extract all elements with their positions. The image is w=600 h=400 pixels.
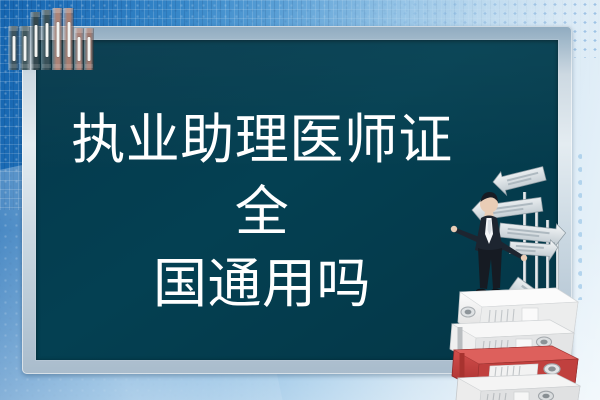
binder-shelf bbox=[8, 6, 96, 70]
binder-stack bbox=[450, 288, 582, 400]
binder-bottom-cap bbox=[53, 64, 62, 68]
poster-canvas: 执业助理医师证全 国通用吗 bbox=[0, 0, 600, 400]
binder-top-cap bbox=[9, 26, 18, 31]
binder-bottom-cap bbox=[31, 64, 40, 68]
binder-top-cap bbox=[75, 28, 83, 33]
binder-bottom-cap bbox=[42, 64, 51, 68]
binder-spine-label bbox=[34, 25, 37, 57]
binder-8 bbox=[84, 28, 94, 70]
binder-top-cap bbox=[31, 12, 40, 17]
binder-top-cap bbox=[53, 8, 62, 13]
binder-top-cap bbox=[20, 26, 29, 31]
illustration-businessman-signposts bbox=[438, 160, 600, 400]
binder-spine-label bbox=[23, 36, 26, 61]
binder-bottom-cap bbox=[75, 64, 83, 68]
binder-6 bbox=[63, 8, 74, 70]
binder-1 bbox=[8, 26, 19, 70]
binder-spine-label bbox=[45, 23, 48, 57]
binder-spine-label bbox=[67, 22, 70, 57]
binder-bottom-cap bbox=[85, 64, 93, 68]
binder-stack-layer-4 bbox=[456, 374, 580, 400]
binder-top-cap bbox=[85, 28, 93, 33]
binder-spine-label bbox=[78, 37, 81, 61]
binder-bottom-cap bbox=[64, 64, 73, 68]
page-title: 执业助理医师证全 国通用吗 bbox=[52, 104, 472, 320]
binder-spine-label bbox=[12, 36, 15, 61]
binder-top-cap bbox=[42, 10, 51, 15]
binder-spine-label bbox=[56, 22, 59, 57]
binder-spine-label bbox=[88, 37, 91, 61]
binder-5 bbox=[52, 8, 63, 70]
binder-4 bbox=[41, 10, 52, 70]
binder-3 bbox=[30, 12, 41, 70]
binder-top-cap bbox=[64, 8, 73, 13]
binder-7 bbox=[74, 28, 84, 70]
binder-bottom-cap bbox=[9, 64, 18, 68]
binder-2 bbox=[19, 26, 30, 70]
binder-bottom-cap bbox=[20, 64, 29, 68]
